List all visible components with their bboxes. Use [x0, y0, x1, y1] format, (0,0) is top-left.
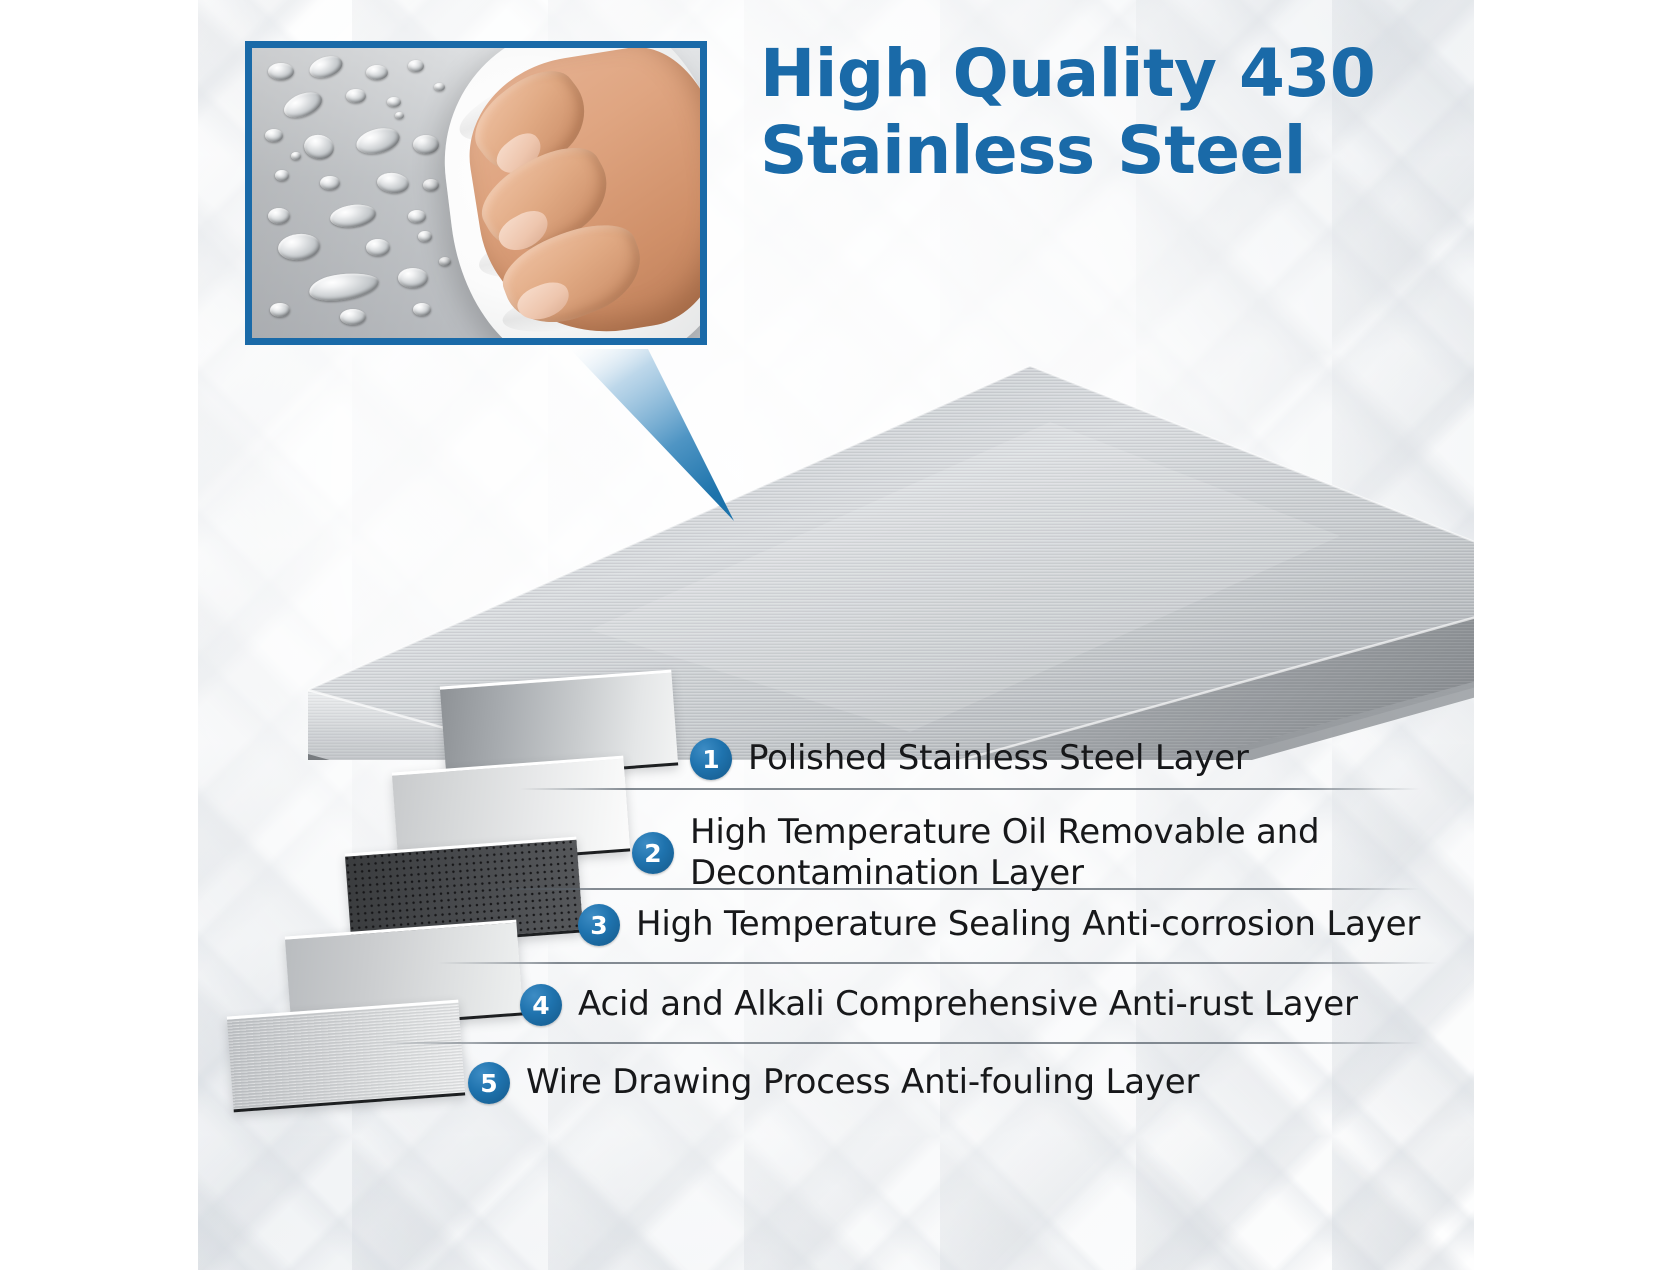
layer-swatch-5: [227, 1000, 465, 1113]
layer-label-5: Wire Drawing Process Anti-fouling Layer: [526, 1062, 1199, 1103]
layer-badge-2: 2: [632, 832, 674, 874]
list-divider-4: [380, 1042, 1420, 1044]
layer-label-4: Acid and Alkali Comprehensive Anti-rust …: [578, 984, 1358, 1025]
layer-badge-5: 5: [468, 1062, 510, 1104]
layer-badge-4: 4: [520, 984, 562, 1026]
layer-badge-3: 3: [578, 904, 620, 946]
list-item: 4 Acid and Alkali Comprehensive Anti-rus…: [520, 984, 1358, 1026]
infographic-canvas: High Quality 430 Stainless Steel 1 Polis…: [0, 0, 1678, 1270]
list-divider-3: [438, 962, 1438, 964]
page-title: High Quality 430 Stainless Steel: [760, 36, 1460, 189]
list-item: 3 High Temperature Sealing Anti-corrosio…: [578, 904, 1420, 946]
left-margin: [0, 0, 198, 1270]
page-title-line-2: Stainless Steel: [760, 113, 1460, 190]
layer-label-3: High Temperature Sealing Anti-corrosion …: [636, 904, 1420, 945]
list-item: 1 Polished Stainless Steel Layer: [690, 738, 1249, 780]
callout-pointer: [520, 345, 760, 525]
inset-photo-frame: [245, 41, 707, 345]
inset-photo: [252, 48, 700, 338]
layer-label-1: Polished Stainless Steel Layer: [748, 738, 1249, 779]
layer-swatch-5-face: [227, 1000, 465, 1113]
layer-label-2: High Temperature Oil Removable and Decon…: [690, 812, 1319, 895]
layer-badge-1: 1: [690, 738, 732, 780]
page-title-line-1: High Quality 430: [760, 36, 1460, 113]
list-item: 5 Wire Drawing Process Anti-fouling Laye…: [468, 1062, 1199, 1104]
list-divider-1: [520, 788, 1420, 790]
right-margin: [1474, 0, 1678, 1270]
list-item: 2 High Temperature Oil Removable and Dec…: [632, 812, 1319, 895]
